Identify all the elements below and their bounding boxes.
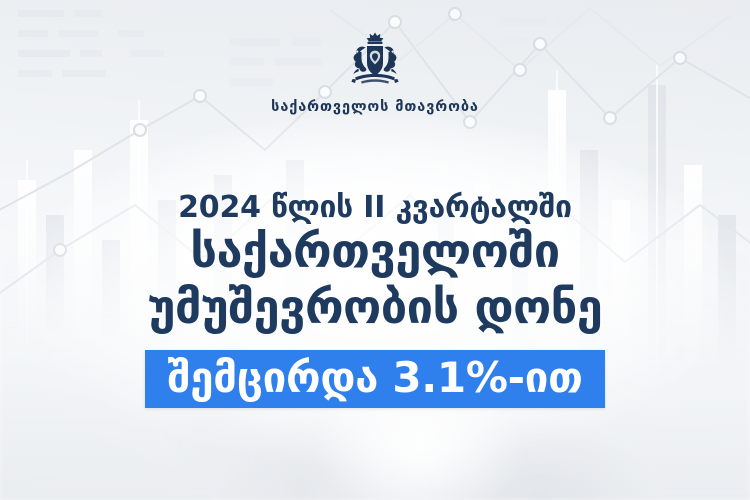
poster-content: საქართველოს მთავრობა 2024 წლის II კვარტა… bbox=[0, 0, 750, 500]
poster-canvas: საქართველოს მთავრობა 2024 წლის II კვარტა… bbox=[0, 0, 750, 500]
headline-topic-line: უმუშევრობის დონე bbox=[0, 281, 750, 336]
georgia-coat-of-arms-icon bbox=[345, 30, 405, 92]
headline-country-line: საქართველოში bbox=[0, 225, 750, 280]
headline-block: 2024 წლის II კვარტალში საქართველოში უმუშ… bbox=[0, 193, 750, 336]
headline-quarter-line: 2024 წლის II კვარტალში bbox=[0, 193, 750, 223]
banner-row: შემცირდა 3.1%-ით bbox=[0, 350, 750, 409]
highlight-banner: შემცირდა 3.1%-ით bbox=[145, 350, 604, 409]
organization-name: საქართველოს მთავრობა bbox=[271, 100, 479, 115]
